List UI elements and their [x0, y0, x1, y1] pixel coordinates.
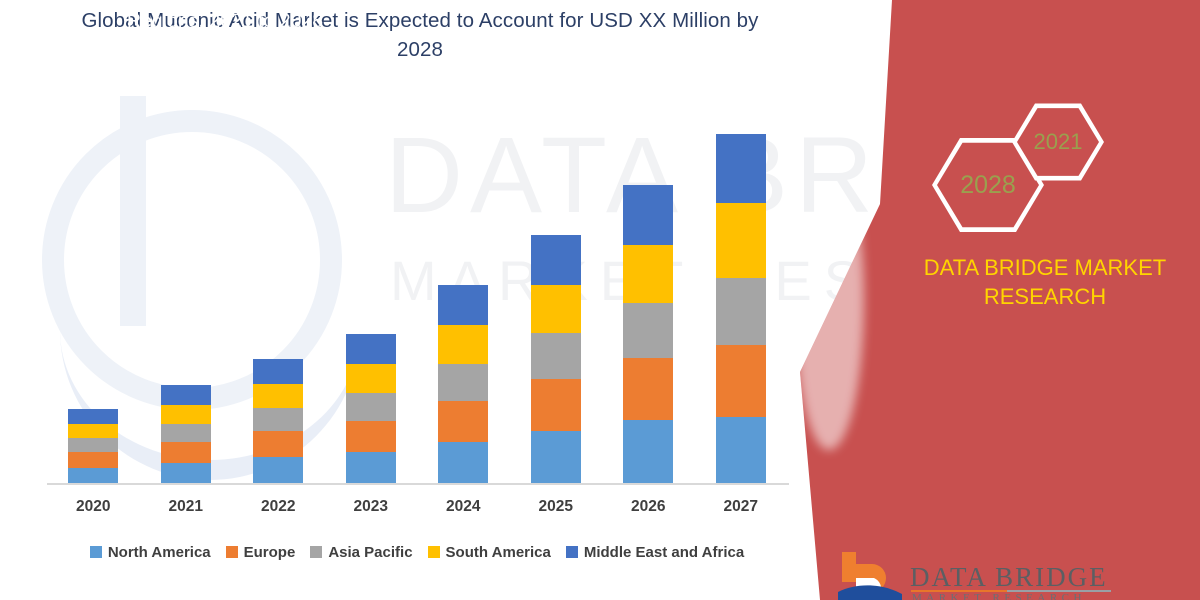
bar-segment-europe[interactable]: [68, 452, 118, 468]
bar-segment-middle-east-and-africa[interactable]: [346, 334, 396, 364]
legend-item-north-america[interactable]: North America: [90, 544, 211, 561]
bar-segment-north-america[interactable]: [161, 463, 211, 484]
bar-stack-2020[interactable]: [68, 409, 118, 484]
hexagon-label-2021: 2021: [1034, 129, 1083, 155]
bar-segment-north-america[interactable]: [68, 468, 118, 484]
legend-swatch-icon: [566, 546, 578, 558]
legend-label: Middle East and Africa: [584, 544, 744, 561]
bar-segment-south-america[interactable]: [346, 364, 396, 393]
bar-segment-europe[interactable]: [716, 345, 766, 417]
bar-segment-south-america[interactable]: [531, 285, 581, 333]
x-tick-2020: 2020: [58, 498, 128, 516]
x-tick-2023: 2023: [336, 498, 406, 516]
bar-stack-2022[interactable]: [253, 359, 303, 484]
infographic-slide: DATA BRIDGE MARKET RESEARCH Global Mucon…: [0, 0, 1200, 600]
bar-stack-2027[interactable]: [716, 134, 766, 484]
legend-swatch-icon: [310, 546, 322, 558]
x-tick-2026: 2026: [613, 498, 683, 516]
bar-segment-middle-east-and-africa[interactable]: [68, 409, 118, 424]
x-tick-2022: 2022: [243, 498, 313, 516]
legend-item-middle-east-and-africa[interactable]: Middle East and Africa: [566, 544, 744, 561]
bar-stack-2023[interactable]: [346, 334, 396, 484]
x-tick-2027: 2027: [706, 498, 776, 516]
bar-stack-2021[interactable]: [161, 385, 211, 484]
bar-segment-north-america[interactable]: [623, 420, 673, 484]
bar-segment-asia-pacific[interactable]: [68, 438, 118, 452]
legend-item-europe[interactable]: Europe: [226, 544, 296, 561]
bar-segment-europe[interactable]: [346, 421, 396, 452]
legend-label: Europe: [244, 544, 296, 561]
legend-item-south-america[interactable]: South America: [428, 544, 551, 561]
bar-segment-middle-east-and-africa[interactable]: [253, 359, 303, 384]
bar-segment-south-america[interactable]: [68, 424, 118, 438]
bar-segment-north-america[interactable]: [346, 452, 396, 484]
legend-swatch-icon: [226, 546, 238, 558]
legend-item-asia-pacific[interactable]: Asia Pacific: [310, 544, 412, 561]
bar-segment-asia-pacific[interactable]: [346, 393, 396, 421]
bar-segment-south-america[interactable]: [716, 203, 766, 278]
chart-legend: North AmericaEuropeAsia PacificSouth Ame…: [47, 540, 787, 564]
panel-title: Regions, 2021 to 2028: [60, 8, 390, 34]
legend-swatch-icon: [90, 546, 102, 558]
brand-name-text: DATA BRIDGE MARKET RESEARCH: [890, 253, 1200, 311]
bar-segment-europe[interactable]: [531, 379, 581, 431]
bar-segment-north-america[interactable]: [531, 431, 581, 484]
bar-segment-south-america[interactable]: [623, 245, 673, 303]
legend-label: North America: [108, 544, 211, 561]
logo-mark-icon: [838, 548, 902, 600]
x-axis-line: [47, 483, 789, 485]
bar-segment-europe[interactable]: [438, 401, 488, 442]
bar-segment-south-america[interactable]: [161, 405, 211, 424]
bar-stack-2026[interactable]: [623, 185, 673, 484]
x-tick-2021: 2021: [151, 498, 221, 516]
bar-segment-asia-pacific[interactable]: [161, 424, 211, 442]
bar-stack-2024[interactable]: [438, 285, 488, 484]
x-axis-tick-labels: 20202021202220232024202520262027: [47, 498, 787, 520]
bar-segment-middle-east-and-africa[interactable]: [531, 235, 581, 285]
bar-segment-middle-east-and-africa[interactable]: [161, 385, 211, 405]
legend-swatch-icon: [428, 546, 440, 558]
logo-name-text: DATA BRIDGE: [910, 562, 1108, 593]
bar-segment-middle-east-and-africa[interactable]: [623, 185, 673, 245]
bar-segment-asia-pacific[interactable]: [253, 408, 303, 431]
bar-segment-asia-pacific[interactable]: [716, 278, 766, 345]
bar-segment-asia-pacific[interactable]: [438, 364, 488, 401]
bar-segment-middle-east-and-africa[interactable]: [438, 285, 488, 325]
x-tick-2024: 2024: [428, 498, 498, 516]
logo-tagline-text: MARKET RESEARCH: [912, 592, 1086, 600]
bar-segment-europe[interactable]: [623, 358, 673, 420]
bar-segment-north-america[interactable]: [253, 457, 303, 484]
bar-segment-south-america[interactable]: [253, 384, 303, 408]
hexagon-inner-2021: 2021: [1017, 106, 1099, 178]
bar-segment-europe[interactable]: [161, 442, 211, 463]
legend-label: Asia Pacific: [328, 544, 412, 561]
bar-segment-europe[interactable]: [253, 431, 303, 457]
bar-segment-asia-pacific[interactable]: [531, 333, 581, 379]
bar-segment-north-america[interactable]: [716, 417, 766, 484]
plot-area: [47, 90, 787, 484]
x-tick-2025: 2025: [521, 498, 591, 516]
legend-label: South America: [446, 544, 551, 561]
bar-segment-north-america[interactable]: [438, 442, 488, 484]
chart-panel: DATA BRIDGE MARKET RESEARCH Global Mucon…: [0, 0, 900, 600]
bar-segment-asia-pacific[interactable]: [623, 303, 673, 358]
hexagon-label-2028: 2028: [960, 171, 1016, 200]
bar-segment-south-america[interactable]: [438, 325, 488, 364]
bar-segment-middle-east-and-africa[interactable]: [716, 134, 766, 203]
company-logo: DATA BRIDGE MARKET RESEARCH: [838, 548, 1198, 600]
bar-stack-2025[interactable]: [531, 235, 581, 484]
